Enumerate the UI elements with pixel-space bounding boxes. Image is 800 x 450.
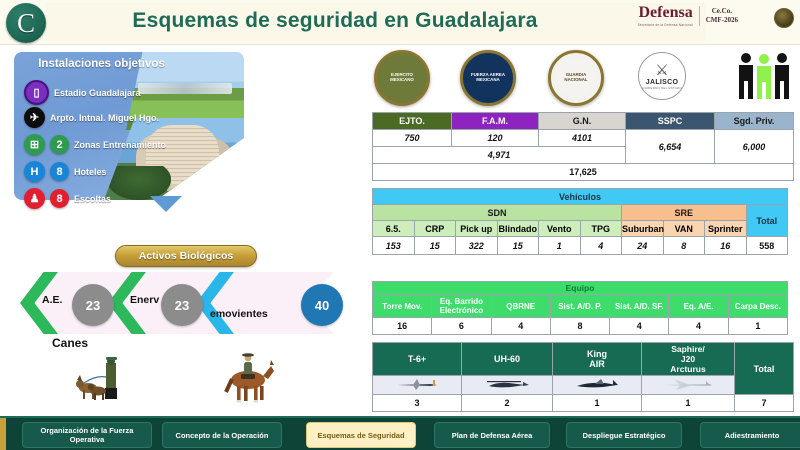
gn-seal-text: GUARDIA NACIONAL [555, 57, 597, 99]
vehicles-col-vento: Vento [539, 221, 581, 237]
aircraft-icon-uh60 [462, 376, 553, 395]
vehicles-col-65: 6.5. [373, 221, 415, 237]
title-bar: C Esquemas de seguridad en Guadalajara D… [0, 0, 800, 45]
turboprop-trainer-icon [391, 377, 443, 392]
stadium-icon: ▯ [24, 80, 49, 105]
nav-despliegue-estrategico[interactable]: Despliegue Estratégico [566, 422, 682, 448]
installation-label-training: Zonas Entrenamiento [74, 140, 166, 150]
table-row: T-6+ UH-60 King AIR Saphire/ J20 Arcturu… [373, 343, 794, 376]
slide-root: C Esquemas de seguridad en Guadalajara D… [0, 0, 800, 450]
guardia-nacional-seal: GUARDIA NACIONAL [548, 50, 604, 106]
training-field-icon: ⊞ [24, 134, 45, 155]
installation-label-airport: Arpto. Intnal. Miguel Hgo. [50, 113, 159, 123]
vehicles-total-value: 558 [746, 237, 788, 255]
nav-esquemas-seguridad[interactable]: Esquemas de Seguridad [306, 422, 416, 448]
nav-organizacion-fuerza-operativa[interactable]: Organización de la Fuerza Operativa [22, 422, 152, 448]
nav-plan-defensa-aerea[interactable]: Plan de Defensa Aérea [434, 422, 550, 448]
vehicles-col-van: VAN [663, 221, 705, 237]
ceco-label: Ce.Co. CMF-2026 [706, 7, 738, 25]
aircraft-col-saphire: Saphire/ J20 Arcturus [642, 343, 735, 376]
table-row: 17,625 [373, 164, 794, 181]
asset-label-3: emovientes [210, 308, 268, 320]
equipment-col-eq-ae: Eq. A/E. [669, 295, 728, 318]
table-row: 6.5. CRP Pick up Blindado Vento TPG Subu… [373, 221, 788, 237]
aircraft-value-saphire: 1 [642, 395, 735, 412]
jalisco-name: JALISCO [646, 79, 678, 86]
equipment-col-torre-mov: Torre Mov. [373, 295, 432, 318]
equipment-value-carpa-desc: 1 [728, 318, 787, 335]
personnel-value-fam: 120 [452, 130, 539, 147]
utility-helicopter-icon [481, 377, 533, 392]
emblem-strip: EJERCITO MEXICANO FUERZA AEREA MEXICANA … [372, 48, 792, 106]
vehicles-total-header: Total [746, 205, 788, 237]
page-title: Esquemas de seguridad en Guadalajara [110, 9, 560, 33]
aircraft-icon-t6 [373, 376, 462, 395]
personnel-subtotal-sdn: 4,971 [373, 147, 626, 164]
table-row: Vehículos [373, 189, 788, 205]
aircraft-col-uh60: UH-60 [462, 343, 553, 376]
aircraft-value-kingair: 1 [553, 395, 642, 412]
jalisco-crest-icon: ⚔ [655, 63, 668, 78]
vehicles-value-sprinter: 16 [705, 237, 747, 255]
defensa-logo: Defensa Secretaría de la Defensa Naciona… [638, 5, 738, 27]
equipment-value-sist-ad-p: 8 [550, 318, 609, 335]
vehicles-col-suburban: Suburban [622, 221, 664, 237]
installation-label-hotels: Hoteles [74, 167, 107, 177]
ejercito-seal-text: EJERCITO MEXICANO [381, 57, 423, 99]
fuerza-aerea-seal: FUERZA AEREA MEXICANA [460, 50, 516, 106]
equipment-table: Equipo Torre Mov. Eq. Barrido Electrónic… [372, 281, 788, 335]
installation-row-stadium: ▯ Estadio Guadalajara [24, 80, 141, 105]
equipment-value-qbrne: 4 [491, 318, 550, 335]
equipment-value-eq-ae: 4 [669, 318, 728, 335]
aircraft-value-t6: 3 [373, 395, 462, 412]
table-row: Torre Mov. Eq. Barrido Electrónico QBRNE… [373, 295, 788, 318]
aircraft-col-t6: T-6+ [373, 343, 462, 376]
installation-row-hotels: H 8 Hoteles [24, 161, 107, 182]
installation-row-airport: ✈ Arpto. Intnal. Miguel Hgo. [24, 107, 159, 128]
equipment-value-barrido: 6 [432, 318, 491, 335]
vehicles-table: Vehículos SDN SRE Total 6.5. CRP Pick up… [372, 188, 788, 255]
equipment-col-carpa-desc: Carpa Desc. [728, 295, 787, 318]
vehicles-value-crp: 15 [414, 237, 456, 255]
ceco-line2: CMF-2026 [706, 16, 738, 25]
aircraft-col-kingair: King AIR [553, 343, 642, 376]
aircraft-icon-saphire [642, 376, 735, 395]
equipment-title: Equipo [373, 282, 788, 295]
slide-badge-letter: C [17, 10, 35, 37]
table-row: 153 15 322 15 1 4 24 8 16 558 [373, 237, 788, 255]
flow-arrow-icon [150, 196, 182, 212]
defensa-subtitle: Secretaría de la Defensa Nacional [638, 23, 693, 27]
installation-row-training: ⊞ 2 Zonas Entrenamiento [24, 134, 166, 155]
jalisco-subtitle: GOBIERNO DEL ESTADO [642, 86, 681, 90]
vehicles-value-65: 153 [373, 237, 415, 255]
vehicles-col-tpg: TPG [580, 221, 622, 237]
table-row: 7 [373, 376, 794, 395]
installation-count-training: 2 [50, 135, 69, 154]
mounted-rider-icon [218, 352, 280, 406]
dog-handler-icon [74, 355, 128, 405]
table-row: EJTO. F.A.M. G.N. SSPC Sgd. Priv. [373, 113, 794, 130]
vehicles-value-suburban: 24 [622, 237, 664, 255]
asset-count-2: 23 [161, 284, 203, 326]
personnel-header-sgd-priv: Sgd. Priv. [715, 113, 794, 130]
equipment-value-torre-mov: 16 [373, 318, 432, 335]
installations-title: Instalaciones objetivos [14, 58, 189, 70]
private-security-silhouettes [736, 50, 792, 102]
equipment-col-sist-ad-sf: Sist. A/D. SF. [610, 295, 669, 318]
biological-assets-row: A.E. Enerv emovientes 23 23 40 [6, 272, 366, 342]
vehicles-value-van: 8 [663, 237, 705, 255]
hotel-icon: H [24, 161, 45, 182]
bottom-navbar: Organización de la Fuerza Operativa Conc… [0, 416, 800, 450]
vehicles-col-blindado: Blindado [497, 221, 539, 237]
nav-adiestramiento[interactable]: Adiestramiento [700, 422, 800, 448]
vehicles-col-pickup: Pick up [456, 221, 498, 237]
vehicles-title: Vehículos [373, 189, 788, 205]
personnel-grand-total: 17,625 [373, 164, 794, 181]
equipment-value-sist-ad-sf: 4 [610, 318, 669, 335]
business-jet-icon [571, 377, 623, 392]
jalisco-logo: ⚔ JALISCO GOBIERNO DEL ESTADO [638, 52, 686, 100]
vehicles-value-vento: 1 [539, 237, 581, 255]
escort-icon: ♟ [24, 188, 45, 209]
ceco-line1: Ce.Co. [706, 7, 738, 16]
canes-label: Canes [52, 336, 88, 350]
asset-label-2: Enerv [130, 294, 159, 306]
installation-count-escorts: 8 [50, 189, 69, 208]
asset-label-1: A.E. [42, 294, 62, 306]
personnel-table: EJTO. F.A.M. G.N. SSPC Sgd. Priv. 750 12… [372, 112, 794, 181]
slide-badge: C [6, 3, 46, 43]
biological-assets-label: Activos Biológicos [139, 250, 234, 262]
navbar-accent [0, 418, 6, 450]
asset-count-1: 23 [72, 284, 114, 326]
nav-concepto-operacion[interactable]: Concepto de la Operación [162, 422, 282, 448]
vehicles-group-sre: SRE [622, 205, 747, 221]
airplane-icon: ✈ [24, 107, 45, 128]
biological-assets-banner: Activos Biológicos [115, 245, 257, 267]
vehicles-col-crp: CRP [414, 221, 456, 237]
table-row: 750 120 4101 6,654 6,000 [373, 130, 794, 147]
personnel-header-fam: F.A.M. [452, 113, 539, 130]
vehicles-value-blindado: 15 [497, 237, 539, 255]
aircraft-total-value-bottom: 7 [735, 395, 794, 412]
installation-label-stadium: Estadio Guadalajara [54, 88, 141, 98]
vehicles-group-sdn: SDN [373, 205, 622, 221]
aircraft-value-uh60: 2 [462, 395, 553, 412]
table-row: Equipo [373, 282, 788, 295]
drone-uav-icon [660, 377, 716, 392]
personnel-header-ejto: EJTO. [373, 113, 452, 130]
table-row: 3 2 1 1 7 [373, 395, 794, 412]
table-row: SDN SRE Total [373, 205, 788, 221]
logo-divider [699, 6, 700, 26]
vehicles-value-tpg: 4 [580, 237, 622, 255]
asset-count-3: 40 [301, 284, 343, 326]
installation-row-escorts: ♟ 8 Escoltas [24, 188, 111, 209]
personnel-header-sspc: SSPC [626, 113, 715, 130]
installation-label-escorts: Escoltas [74, 194, 111, 204]
defensa-wordmark: Defensa [638, 5, 693, 21]
vehicles-col-sprinter: Sprinter [705, 221, 747, 237]
installation-count-hotels: 8 [50, 162, 69, 181]
equipment-col-qbrne: QBRNE [491, 295, 550, 318]
personnel-value-ejto: 750 [373, 130, 452, 147]
aircraft-icon-kingair [553, 376, 642, 395]
equipment-col-barrido: Eq. Barrido Electrónico [432, 295, 491, 318]
table-row: 16 6 4 8 4 4 1 [373, 318, 788, 335]
personnel-value-sgd-priv: 6,000 [715, 130, 794, 164]
vehicles-value-pickup: 322 [456, 237, 498, 255]
hotel-photo [104, 118, 244, 200]
personnel-value-sspc: 6,654 [626, 130, 715, 164]
aircraft-total-header: Total [735, 343, 794, 395]
aircraft-table: T-6+ UH-60 King AIR Saphire/ J20 Arcturu… [372, 342, 794, 412]
equipment-col-sist-ad-p: Sist. A/D. P. [550, 295, 609, 318]
ejercito-mexicano-seal: EJERCITO MEXICANO [374, 50, 430, 106]
personnel-header-gn: G.N. [539, 113, 626, 130]
fam-seal-text: FUERZA AEREA MEXICANA [467, 57, 509, 99]
sedena-seal-icon [774, 8, 794, 28]
personnel-value-gn: 4101 [539, 130, 626, 147]
